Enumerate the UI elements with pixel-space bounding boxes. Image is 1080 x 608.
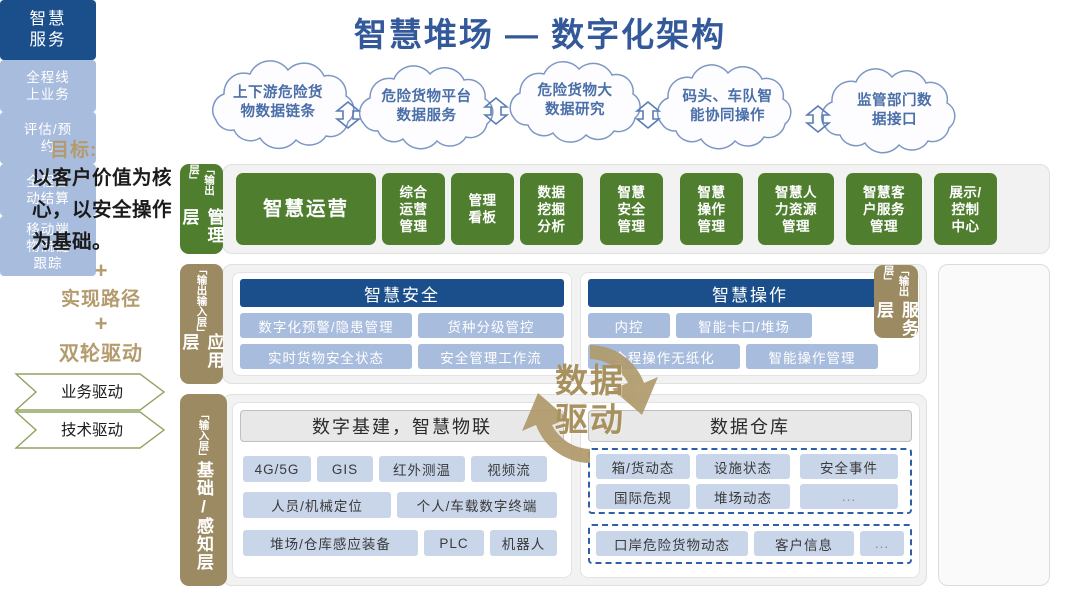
service-column — [938, 264, 1050, 586]
mgmt-box-4[interactable]: 智慧 安全 管理 — [600, 173, 663, 245]
security-header: 智慧安全 — [240, 279, 564, 307]
security-chip-2[interactable]: 货种分级管控 — [418, 313, 564, 338]
cloud-label-1: 上下游危险货 物数据链条 — [208, 84, 348, 122]
warehouse-chip-5[interactable]: 堆场动态 — [696, 484, 790, 509]
infra-chip-3[interactable]: 红外测温 — [379, 456, 465, 482]
cloud-label-3: 危险货物大 数据研究 — [511, 82, 639, 120]
goal-panel: 目标: 以客户价值为核心，以安全操作为基础。 + 实现路径 + 双轮驱动 业务驱… — [22, 135, 180, 452]
operation-chip-2[interactable]: 智能卡口/堆场 — [676, 313, 812, 338]
infra-chip-1[interactable]: 4G/5G — [243, 456, 311, 482]
cloud-band: 上下游危险货 物数据链条 危险货物平台 数据服务 危险货物大 数据研究 码头、车… — [196, 58, 986, 156]
layer-tab-service[interactable]: 服务层 「输出层」 — [874, 265, 918, 338]
goal-title: 目标: — [22, 135, 180, 162]
driver-item-technology[interactable]: 技术驱动 — [44, 418, 140, 440]
goal-path-label: 实现路径 — [22, 284, 180, 311]
layer-tab-base-small: 「输入层」 — [197, 409, 212, 462]
warehouse-chip-1[interactable]: 箱/货动态 — [596, 454, 690, 479]
layer-tab-service-small: 「输出层」 — [882, 265, 912, 301]
infra-chip-4[interactable]: 视频流 — [471, 456, 547, 482]
operation-header: 智慧操作 — [588, 279, 912, 307]
security-chip-4[interactable]: 安全管理工作流 — [418, 344, 564, 369]
layer-tab-management[interactable]: 管理层 「输出层」 — [180, 164, 223, 254]
service-item-1[interactable]: 全程线 上业务 — [0, 60, 96, 112]
plus-icon-2: + — [22, 313, 180, 335]
goal-body: 以客户价值为核心，以安全操作为基础。 — [22, 162, 180, 258]
mgmt-box-5[interactable]: 智慧 操作 管理 — [680, 173, 743, 245]
infra-header: 数字基建，智慧物联 — [240, 410, 564, 442]
layer-tab-management-small: 「输出层」 — [187, 164, 217, 208]
warehouse-chip-2[interactable]: 设施状态 — [696, 454, 790, 479]
driver-item-business[interactable]: 业务驱动 — [44, 380, 140, 402]
cloud-label-2: 危险货物平台 数据服务 — [359, 88, 494, 126]
mgmt-box-8[interactable]: 展示/ 控制 中心 — [934, 173, 997, 245]
infra-chip-2[interactable]: GIS — [317, 456, 373, 482]
driver-list: 业务驱动 技术驱动 — [14, 372, 172, 452]
infra-chip-9[interactable]: 机器人 — [490, 530, 557, 556]
infra-chip-8[interactable]: PLC — [424, 530, 484, 556]
plus-icon-1: + — [22, 260, 180, 282]
warehouse-chip-7[interactable]: 口岸危险货物动态 — [596, 531, 748, 556]
layer-tab-base-big: 基础/感知层 — [191, 461, 216, 571]
warehouse-chip-3[interactable]: 安全事件 — [800, 454, 898, 479]
layer-tab-base[interactable]: 基础/感知层 「输入层」 — [180, 394, 227, 586]
infra-chip-7[interactable]: 堆场/仓库感应装备 — [243, 530, 418, 556]
mgmt-box-7[interactable]: 智慧客 户服务 管理 — [846, 173, 922, 245]
layer-tab-application-big: 应用层 — [177, 333, 227, 384]
layer-tab-service-big: 服务层 — [871, 301, 921, 338]
mgmt-box-3[interactable]: 数据 挖掘 分析 — [520, 173, 583, 245]
warehouse-chip-9[interactable]: ... — [860, 531, 904, 556]
layer-tab-application[interactable]: 应用层 「输出输入层」 — [180, 264, 223, 384]
warehouse-chip-6[interactable]: ... — [800, 484, 898, 509]
operation-chip-3[interactable]: 全程操作无纸化 — [588, 344, 740, 369]
layer-tab-management-big: 管理层 — [177, 208, 227, 254]
cloud-label-4: 码头、车队智 能协同操作 — [659, 88, 796, 126]
infra-chip-5[interactable]: 人员/机械定位 — [243, 492, 391, 518]
layer-tab-application-small: 「输出输入层」 — [195, 264, 210, 333]
page-title: 智慧堆场 — 数字化架构 — [0, 8, 1080, 56]
mgmt-box-1[interactable]: 综合 运营 管理 — [382, 173, 445, 245]
goal-dual-label: 双轮驱动 — [22, 337, 180, 366]
warehouse-chip-8[interactable]: 客户信息 — [754, 531, 854, 556]
security-chip-3[interactable]: 实时货物安全状态 — [240, 344, 412, 369]
warehouse-chip-4[interactable]: 国际危规 — [596, 484, 690, 509]
mgmt-box-6[interactable]: 智慧人 力资源 管理 — [758, 173, 834, 245]
security-chip-1[interactable]: 数字化预警/隐患管理 — [240, 313, 412, 338]
operation-chip-1[interactable]: 内控 — [588, 313, 670, 338]
infra-chip-6[interactable]: 个人/车载数字终端 — [397, 492, 557, 518]
cloud-label-5: 监管部门数 据接口 — [828, 92, 961, 130]
operation-chip-4[interactable]: 智能操作管理 — [746, 344, 878, 369]
mgmt-box-main[interactable]: 智慧运营 — [236, 173, 376, 245]
warehouse-header: 数据仓库 — [588, 410, 912, 442]
mgmt-box-2[interactable]: 管理 看板 — [451, 173, 514, 245]
